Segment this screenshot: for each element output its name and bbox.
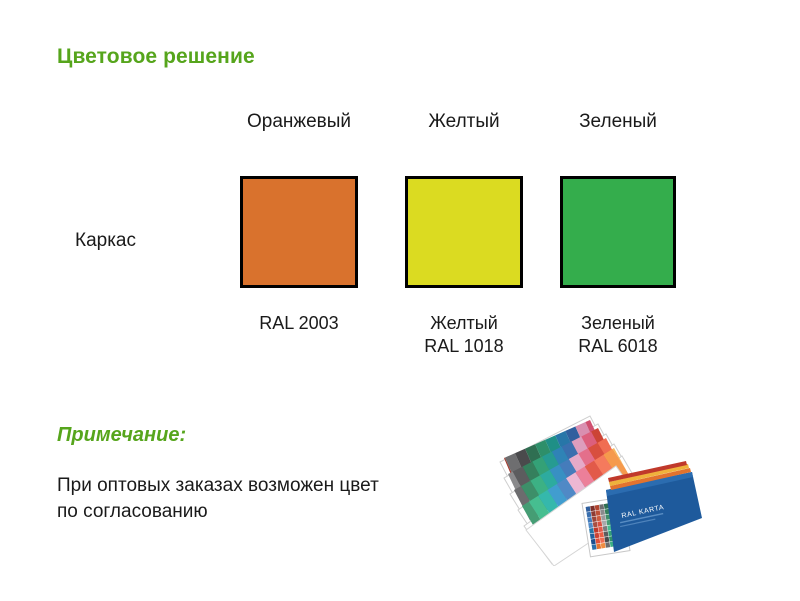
swatch-wrapper-orange [219, 176, 379, 288]
column-caption-green: Зеленый RAL 6018 [538, 312, 698, 358]
color-swatch-green[interactable] [560, 176, 676, 288]
note-line-1: При оптовых заказах возможен цвет [57, 473, 487, 499]
swatch-wrapper-green [538, 176, 698, 288]
color-swatch-yellow[interactable] [405, 176, 523, 288]
column-caption-orange: RAL 2003 [219, 312, 379, 335]
swatch-wrapper-yellow [384, 176, 544, 288]
ral-fandeck-image: RAL KARTA [494, 414, 706, 566]
note-body: При оптовых заказах возможен цвет по сог… [57, 473, 487, 525]
color-swatch-orange[interactable] [240, 176, 358, 288]
column-caption-yellow: Желтый RAL 1018 [384, 312, 544, 358]
ral-fandeck-svg: RAL KARTA [494, 414, 706, 566]
caption-line-1: Зеленый [538, 312, 698, 335]
note-line-2: по согласованию [57, 499, 487, 525]
caption-line-1: RAL 2003 [219, 312, 379, 335]
color-column-yellow: Желтый Желтый RAL 1018 [384, 110, 544, 358]
column-header-yellow: Желтый [384, 110, 544, 134]
caption-line-2: RAL 6018 [538, 335, 698, 358]
note-title: Примечание: [57, 424, 186, 447]
page-title: Цветовое решение [57, 45, 255, 69]
color-column-orange: Оранжевый RAL 2003 [219, 110, 379, 335]
column-header-orange: Оранжевый [219, 110, 379, 134]
column-header-green: Зеленый [538, 110, 698, 134]
table-row-label-frame: Каркас [75, 230, 136, 252]
slide-canvas: Цветовое решение Каркас Оранжевый RAL 20… [0, 0, 800, 601]
color-column-green: Зеленый Зеленый RAL 6018 [538, 110, 698, 358]
caption-line-2: RAL 1018 [384, 335, 544, 358]
caption-line-1: Желтый [384, 312, 544, 335]
